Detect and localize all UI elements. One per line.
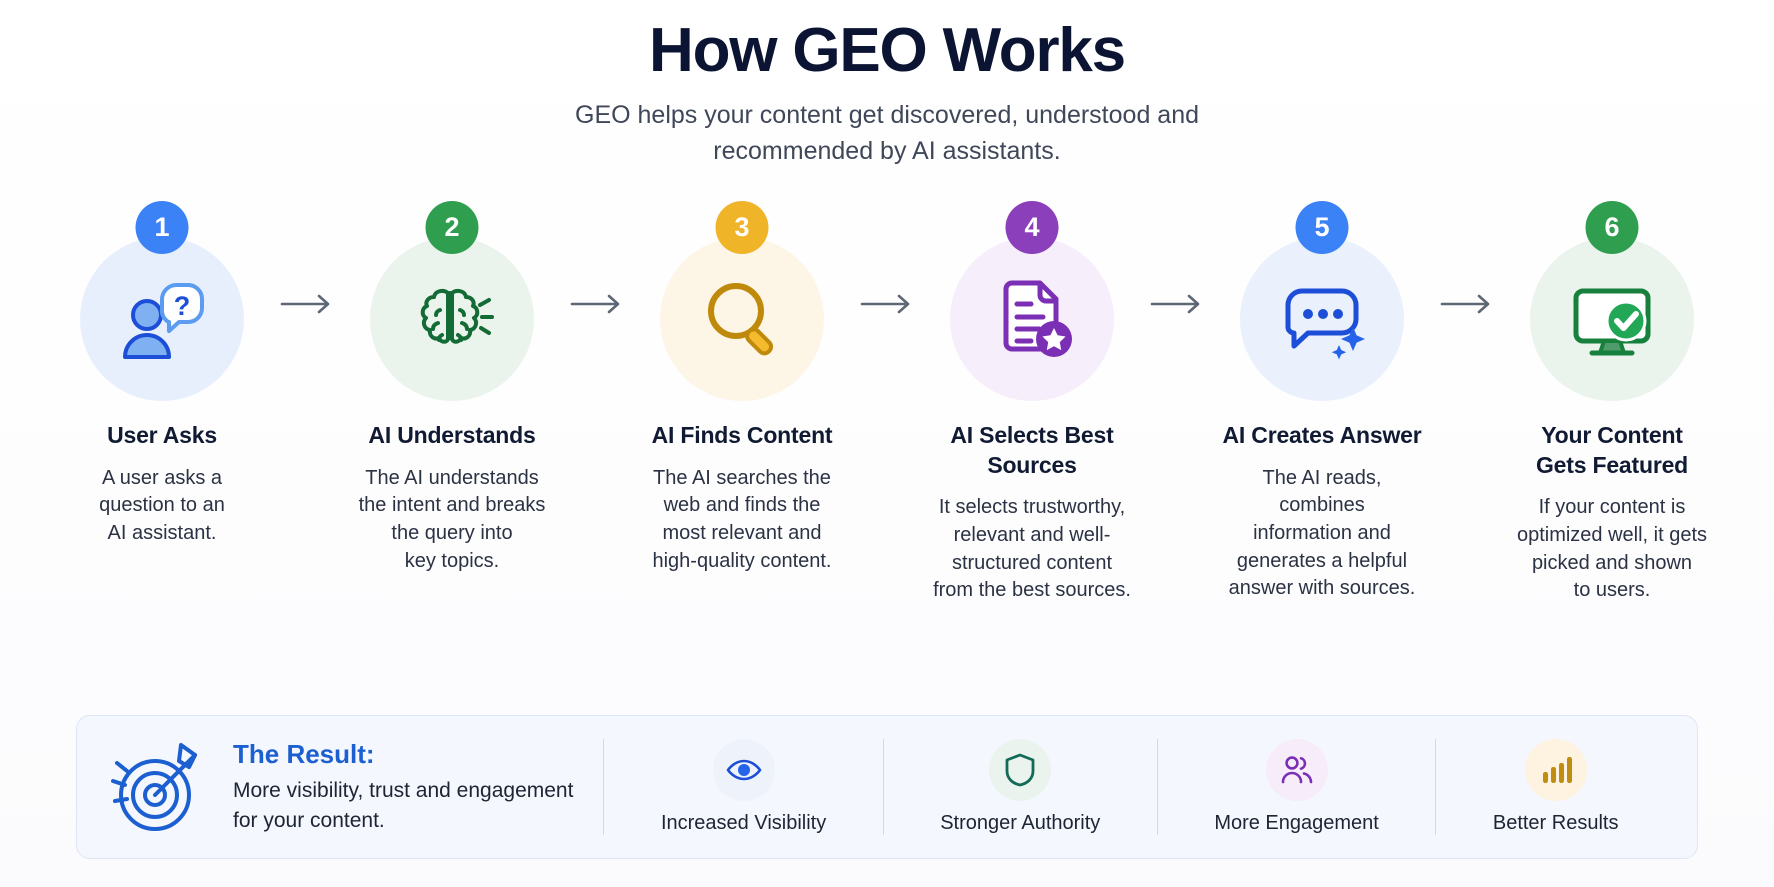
- step-2-description: The AI understands the intent and breaks…: [359, 465, 546, 575]
- header: How GEO Works GEO helps your content get…: [40, 18, 1734, 169]
- result-description: More visibility, trust and engagement fo…: [233, 776, 573, 836]
- benefit-icon-circle: [1266, 739, 1328, 801]
- step-5-disc: [1240, 237, 1404, 401]
- shield-icon: [1002, 752, 1038, 788]
- infographic-page: How GEO Works GEO helps your content get…: [0, 0, 1774, 887]
- benefit-label: Stronger Authority: [940, 811, 1100, 835]
- benefit-icon-circle: [989, 739, 1051, 801]
- arrow-4-to-5: [1135, 201, 1219, 407]
- step-4-visual: 4: [949, 201, 1115, 407]
- step-2-number-badge: 2: [426, 201, 479, 254]
- step-3-disc: [660, 237, 824, 401]
- step-6-number-badge: 6: [1586, 201, 1639, 254]
- monitor-check-icon: [1564, 271, 1660, 367]
- benefit-more-engagement: More Engagement: [1198, 739, 1395, 835]
- step-1-visual: ? 1: [79, 201, 245, 407]
- arrow-3-to-4: [845, 201, 929, 407]
- step-6-title: Your Content Gets Featured: [1536, 421, 1688, 480]
- step-5: 5 AI Creates Answer The AI reads, combin…: [1219, 201, 1425, 602]
- benefit-stronger-authority: Stronger Authority: [924, 739, 1116, 835]
- step-4: 4 AI Selects Best Sources It selects tru…: [929, 201, 1135, 604]
- arrow-5-to-6: [1425, 201, 1509, 407]
- eye-icon: [726, 752, 762, 788]
- step-6-description: If your content is optimized well, it ge…: [1517, 494, 1707, 604]
- benefit-label: Better Results: [1493, 811, 1619, 835]
- chat-sparkle-icon: [1274, 271, 1370, 367]
- benefit-divider: [1157, 739, 1158, 835]
- target-arrow-icon: [103, 733, 211, 841]
- step-1-number-badge: 1: [136, 201, 189, 254]
- step-3-number-badge: 3: [716, 201, 769, 254]
- page-subtitle: GEO helps your content get discovered, u…: [527, 97, 1247, 170]
- step-5-number-badge: 5: [1296, 201, 1349, 254]
- page-title: How GEO Works: [40, 18, 1734, 85]
- step-1-description: A user asks a question to an AI assistan…: [99, 465, 225, 548]
- result-heading: The Result:: [233, 739, 573, 770]
- step-2-title: AI Understands: [368, 421, 535, 450]
- result-summary: The Result: More visibility, trust and e…: [103, 733, 603, 841]
- result-bar: The Result: More visibility, trust and e…: [76, 715, 1698, 859]
- svg-text:?: ?: [174, 291, 191, 321]
- brain-icon: [404, 271, 500, 367]
- arrow-right-icon: [860, 293, 914, 315]
- step-6-visual: 6: [1529, 201, 1695, 407]
- step-3-visual: 3: [659, 201, 825, 407]
- benefit-icon-circle: [713, 739, 775, 801]
- result-text-block: The Result: More visibility, trust and e…: [233, 739, 573, 836]
- step-1-title: User Asks: [107, 421, 217, 450]
- magnifier-icon: [694, 271, 790, 367]
- arrow-1-to-2: [265, 201, 349, 407]
- benefit-increased-visibility: Increased Visibility: [645, 739, 842, 835]
- step-5-description: The AI reads, combines information and g…: [1219, 465, 1425, 603]
- step-4-description: It selects trustworthy, relevant and wel…: [933, 494, 1131, 604]
- step-2-disc: [370, 237, 534, 401]
- arrow-2-to-3: [555, 201, 639, 407]
- benefit-divider: [883, 739, 884, 835]
- step-2-visual: 2: [369, 201, 535, 407]
- step-3: 3 AI Finds Content The AI searches the w…: [639, 201, 845, 575]
- steps-row: ? 1 User Asks A user asks a question to …: [40, 201, 1734, 604]
- benefit-label: More Engagement: [1214, 811, 1379, 835]
- arrow-right-icon: [570, 293, 624, 315]
- benefit-icon-circle: [1525, 739, 1587, 801]
- benefits-row: Increased Visibility Stronger Authority: [604, 739, 1675, 835]
- step-4-disc: [950, 237, 1114, 401]
- user-question-icon: ?: [114, 271, 210, 367]
- step-4-title: AI Selects Best Sources: [929, 421, 1135, 480]
- step-3-description: The AI searches the web and finds the mo…: [652, 465, 831, 575]
- document-star-icon: [984, 271, 1080, 367]
- step-6-disc: [1530, 237, 1694, 401]
- step-5-title: AI Creates Answer: [1223, 421, 1422, 450]
- arrow-right-icon: [1440, 293, 1494, 315]
- arrow-right-icon: [1150, 293, 1204, 315]
- step-6: 6 Your Content Gets Featured If your con…: [1509, 201, 1715, 604]
- step-4-number-badge: 4: [1006, 201, 1059, 254]
- step-1-disc: ?: [80, 237, 244, 401]
- step-5-visual: 5: [1239, 201, 1405, 407]
- step-2: 2 AI Understands The AI understands the …: [349, 201, 555, 575]
- step-1: ? 1 User Asks A user asks a question to …: [59, 201, 265, 547]
- bar-chart-icon: [1538, 752, 1574, 788]
- benefit-label: Increased Visibility: [661, 811, 826, 835]
- benefit-divider: [1435, 739, 1436, 835]
- users-icon: [1279, 752, 1315, 788]
- step-3-title: AI Finds Content: [652, 421, 833, 450]
- benefit-better-results: Better Results: [1477, 739, 1635, 835]
- arrow-right-icon: [280, 293, 334, 315]
